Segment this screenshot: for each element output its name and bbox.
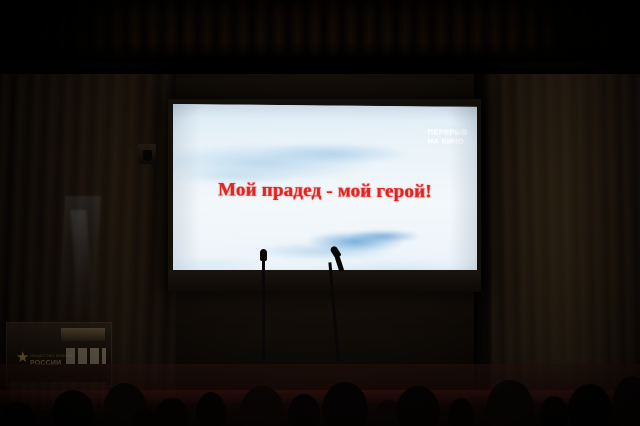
microphone-stand-left: [256, 249, 272, 359]
slide-logo: ПЕРЕРЫВ НА КИНО: [428, 128, 468, 145]
banner-stand-badges: [66, 348, 106, 364]
auditorium-screenshot: ПЕРЕРЫВ НА КИНО Мой прадед - мой герой! …: [0, 0, 640, 426]
audience-head: [132, 408, 158, 426]
banner-stand-top-strip: [61, 328, 105, 341]
valance-right-shadow: [512, 0, 640, 62]
microphone-clip-right: [335, 256, 345, 273]
microphone-stand-right: [325, 246, 355, 361]
slide-title: Мой прадед - мой герой!: [173, 179, 477, 204]
microphone-pole-left: [262, 260, 265, 359]
stage-curtain-right: [474, 30, 640, 402]
microphone-pole-right: [328, 262, 339, 361]
audience-row: [0, 364, 640, 426]
valance-left-shadow: [0, 0, 128, 62]
slide-logo-line-2: НА КИНО: [428, 137, 468, 146]
spotlight-lens: [143, 150, 152, 161]
